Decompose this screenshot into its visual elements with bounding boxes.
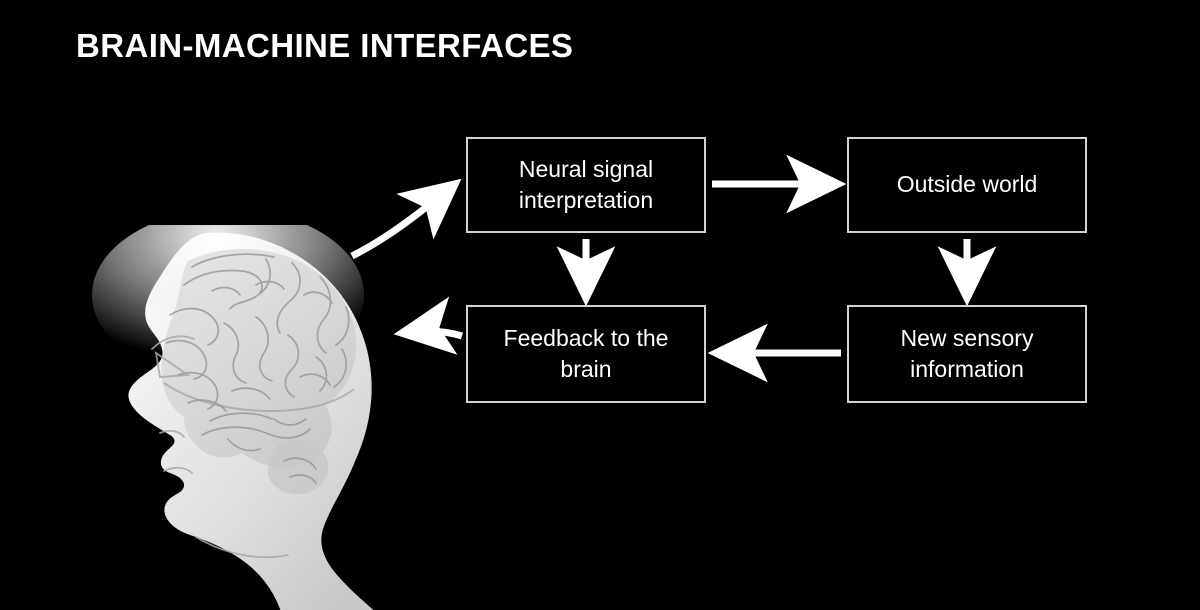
flow-box-label: Feedback to the brain — [482, 323, 690, 385]
flow-box-label: New sensory information — [863, 323, 1071, 385]
flow-box-neural-signal-interpretation[interactable]: Neural signal interpretation — [466, 137, 706, 233]
arrow-feedback-to-brain — [402, 331, 462, 336]
slide-canvas: BRAIN-MACHINE INTERFACES — [0, 0, 1200, 610]
flow-box-outside-world[interactable]: Outside world — [847, 137, 1087, 233]
arrow-brain-to-neural — [352, 184, 455, 256]
flow-box-label: Neural signal interpretation — [482, 154, 690, 216]
flow-box-new-sensory-information[interactable]: New sensory information — [847, 305, 1087, 403]
flow-box-label: Outside world — [897, 169, 1038, 200]
flow-box-feedback-to-the-brain[interactable]: Feedback to the brain — [466, 305, 706, 403]
flow-diagram: Neural signal interpretation Outside wor… — [0, 0, 1200, 610]
